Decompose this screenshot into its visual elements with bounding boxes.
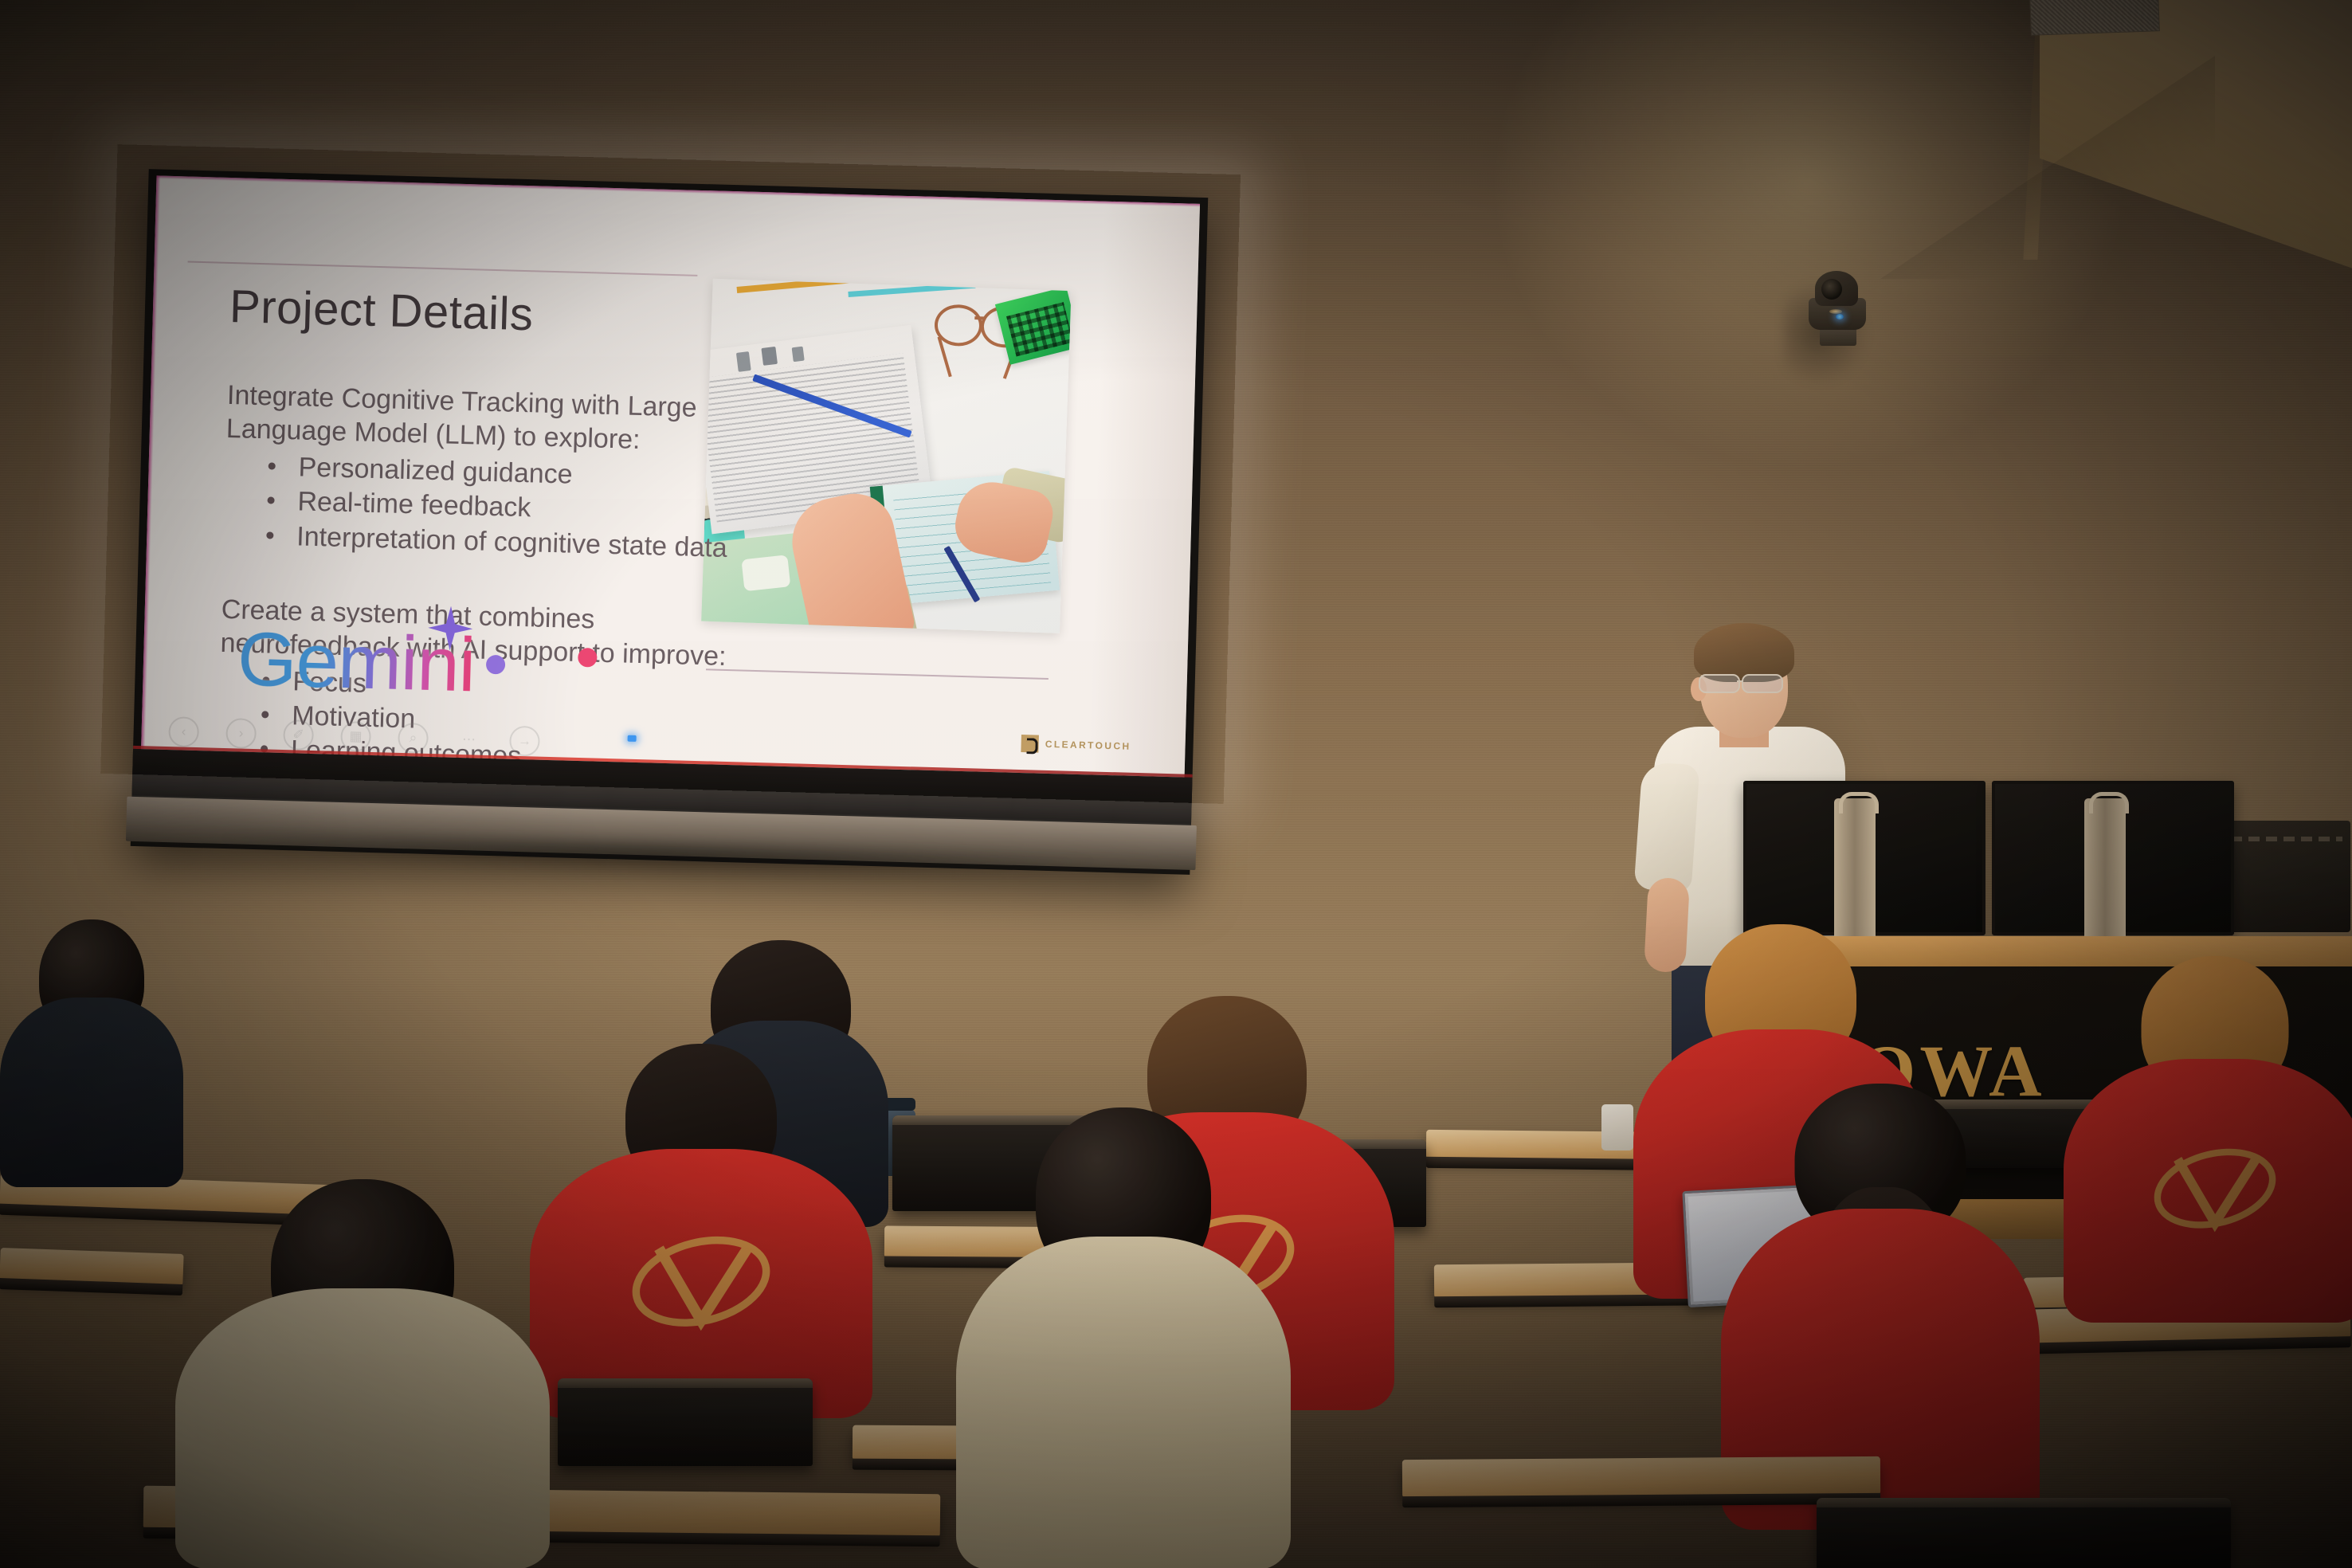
display-brand: CLEARTOUCH bbox=[1021, 735, 1131, 755]
photo-binder-clip-3 bbox=[792, 347, 805, 363]
c-logo-icon bbox=[1021, 735, 1040, 753]
screen-brightness-falloff bbox=[1088, 202, 1200, 786]
presenter-lens-left bbox=[1699, 674, 1740, 693]
chair-trim bbox=[558, 1378, 813, 1388]
slide-divider-top bbox=[188, 261, 698, 276]
slide-block-1-bullets: Personalized guidance Real-time feedback… bbox=[223, 449, 735, 565]
table-row bbox=[0, 1248, 184, 1286]
back-icon[interactable]: ‹ bbox=[168, 716, 199, 747]
camera-status-led bbox=[1836, 314, 1844, 319]
slide-photo bbox=[701, 279, 1071, 633]
presenter-glasses-bridge bbox=[1737, 680, 1743, 682]
audience-member bbox=[175, 1179, 550, 1568]
photo-glasses-bridge bbox=[974, 316, 986, 319]
presentation-slide: Project Details bbox=[141, 175, 1200, 785]
monitor-stand-right bbox=[2084, 798, 2126, 939]
presenter-hair bbox=[1694, 623, 1794, 682]
bullet-dot-icon bbox=[266, 531, 273, 539]
monitor-handle-left bbox=[1839, 792, 1879, 813]
camera-lens bbox=[1821, 279, 1842, 300]
photo-binder-clip-1 bbox=[736, 351, 751, 372]
pen-icon[interactable]: ✐ bbox=[283, 719, 314, 751]
slide-title: Project Details bbox=[229, 280, 534, 341]
chair-back bbox=[1817, 1498, 2231, 1568]
ceiling-vent-icon bbox=[2029, 0, 2160, 36]
forward-icon[interactable]: › bbox=[225, 718, 257, 749]
slide-block-1-lead: Integrate Cognitive Tracking with Large … bbox=[225, 378, 737, 460]
chair-back bbox=[558, 1378, 813, 1466]
chair-trim bbox=[1817, 1498, 2231, 1507]
v-swoosh-icon bbox=[625, 1224, 776, 1336]
presenter-glasses-icon bbox=[1697, 674, 1791, 692]
audience-member bbox=[530, 1044, 872, 1418]
presenter-lens-right bbox=[1742, 674, 1783, 693]
bullet-dot-icon bbox=[261, 711, 269, 718]
display-brand-text: CLEARTOUCH bbox=[1045, 739, 1131, 752]
audience-member bbox=[2064, 956, 2352, 1323]
bullet-text: Personalized guidance bbox=[298, 453, 573, 490]
paper-cup bbox=[1601, 1104, 1633, 1151]
exit-icon[interactable]: → bbox=[509, 726, 540, 757]
bullet-dot-icon bbox=[269, 463, 276, 470]
photo-binder-clip-2 bbox=[761, 347, 778, 366]
podium-monitors bbox=[1743, 781, 2253, 948]
search-icon[interactable]: ⌕ bbox=[398, 723, 429, 754]
slide-divider-bottom bbox=[706, 668, 1049, 680]
power-led-icon bbox=[628, 735, 637, 742]
more-icon[interactable]: ⋯ bbox=[455, 726, 483, 754]
audience-member bbox=[0, 924, 183, 1187]
grid-icon[interactable]: ▦ bbox=[340, 721, 371, 752]
monitor-stand-left bbox=[1834, 798, 1876, 939]
presenter-sleeve-left bbox=[1634, 762, 1700, 893]
ptz-camera-icon bbox=[1802, 266, 1872, 346]
interactive-display[interactable]: Project Details bbox=[131, 169, 1209, 875]
audience-member bbox=[956, 1107, 1291, 1568]
monitor-handle-right bbox=[2089, 792, 2129, 813]
v-swoosh-icon bbox=[2148, 1132, 2281, 1242]
student-torso bbox=[956, 1237, 1291, 1568]
bullet-dot-icon bbox=[267, 497, 274, 504]
student-torso bbox=[0, 998, 183, 1187]
gemini-logo: Gemini bbox=[237, 621, 476, 704]
lecture-hall-photo: Project Details bbox=[0, 0, 2352, 1568]
display-screen[interactable]: Project Details bbox=[141, 175, 1200, 785]
table-row bbox=[1402, 1456, 1880, 1498]
bullet-text: Real-time feedback bbox=[297, 487, 531, 523]
student-torso bbox=[175, 1288, 550, 1568]
